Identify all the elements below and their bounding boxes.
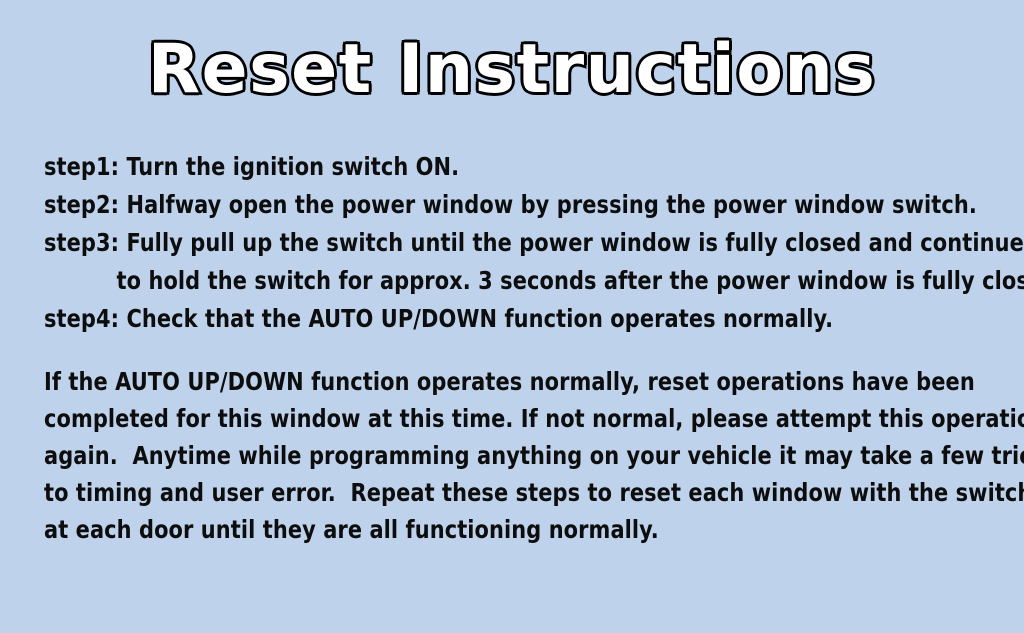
step-line: step4: Check that the AUTO UP/DOWN funct… <box>44 300 937 338</box>
paragraph-line: to timing and user error. Repeat these s… <box>44 474 937 511</box>
paragraph-line: completed for this window at this time. … <box>44 400 937 437</box>
paragraph-line: again. Anytime while programming anythin… <box>44 437 937 474</box>
page-title-container: Reset Instructions <box>0 36 1024 104</box>
step-line: step2: Halfway open the power window by … <box>44 186 937 224</box>
steps-list: step1: Turn the ignition switch ON. step… <box>44 148 1004 338</box>
paragraph-line: If the AUTO UP/DOWN function operates no… <box>44 363 937 400</box>
step-line: step3: Fully pull up the switch until th… <box>44 224 937 262</box>
page-title: Reset Instructions <box>148 36 877 104</box>
instruction-card: Reset Instructions step1: Turn the ignit… <box>0 0 1024 633</box>
instructions-body: step1: Turn the ignition switch ON. step… <box>44 148 1004 548</box>
step-continuation-line: to hold the switch for approx. 3 seconds… <box>44 262 937 300</box>
step-line: step1: Turn the ignition switch ON. <box>44 148 937 186</box>
closing-paragraph: If the AUTO UP/DOWN function operates no… <box>44 363 1004 548</box>
section-spacer <box>44 338 1004 363</box>
paragraph-line: at each door until they are all function… <box>44 511 937 548</box>
